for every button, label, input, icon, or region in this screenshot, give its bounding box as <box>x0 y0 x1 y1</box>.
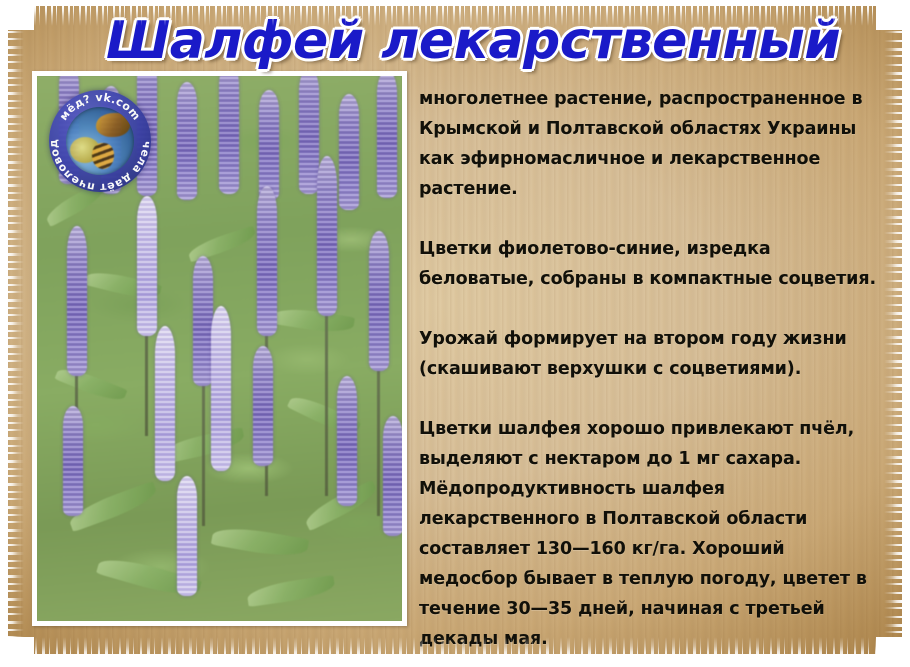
flower-spike <box>219 76 239 194</box>
flower-spike <box>369 231 389 371</box>
paragraph-intro: многолетнее растение, распространенное в… <box>419 84 887 204</box>
logo-ring-text-bottom-path: Пчела даёт пчеловоду <box>49 90 151 192</box>
logo-ring-text-bottom: Пчела даёт пчеловоду <box>49 90 151 192</box>
sage-plant-photo: мёд? vk.com Пчела даёт пчеловоду <box>37 76 402 621</box>
flower-spike <box>383 416 402 536</box>
flower-spike <box>259 90 279 200</box>
flower-spike <box>299 76 319 194</box>
paragraph-flowers: Цветки фиолетово-синие, изредка беловаты… <box>419 234 887 294</box>
flower-spike <box>67 226 87 376</box>
logo-ring-text-top-path: мёд? vk.com <box>57 91 143 123</box>
flower-spike <box>193 256 213 386</box>
description-text-column: многолетнее растение, распространенное в… <box>419 84 887 654</box>
poster-canvas: мёд? vk.com Пчела даёт пчеловоду Шалфей … <box>0 0 910 667</box>
flower-spike <box>63 406 83 516</box>
plant-photo-frame: мёд? vk.com Пчела даёт пчеловоду <box>32 71 407 626</box>
flower-spike <box>211 306 231 471</box>
flower-spike <box>177 476 197 596</box>
paragraph-honey-yield: Цветки шалфея хорошо привлекают пчёл, вы… <box>419 414 887 654</box>
flower-spike <box>253 346 273 466</box>
bee-icon <box>92 143 114 169</box>
flower-spike <box>155 326 175 481</box>
flower-spike <box>257 186 277 336</box>
logo-ring-text: мёд? vk.com Пчела даёт пчеловоду <box>49 90 151 192</box>
beekeeper-logo-watermark: мёд? vk.com Пчела даёт пчеловоду <box>49 90 151 192</box>
flower-spike <box>317 156 337 316</box>
flower-spike <box>339 94 359 210</box>
paragraph-harvest: Урожай формирует на втором году жизни (с… <box>419 324 887 384</box>
page-title: Шалфей лекарственный <box>106 11 896 71</box>
flower-spike <box>177 82 197 200</box>
flower-spike <box>377 76 397 198</box>
flower-spike <box>337 376 357 506</box>
flower-spike <box>137 196 157 336</box>
logo-ring-text-top: мёд? vk.com <box>57 91 143 123</box>
